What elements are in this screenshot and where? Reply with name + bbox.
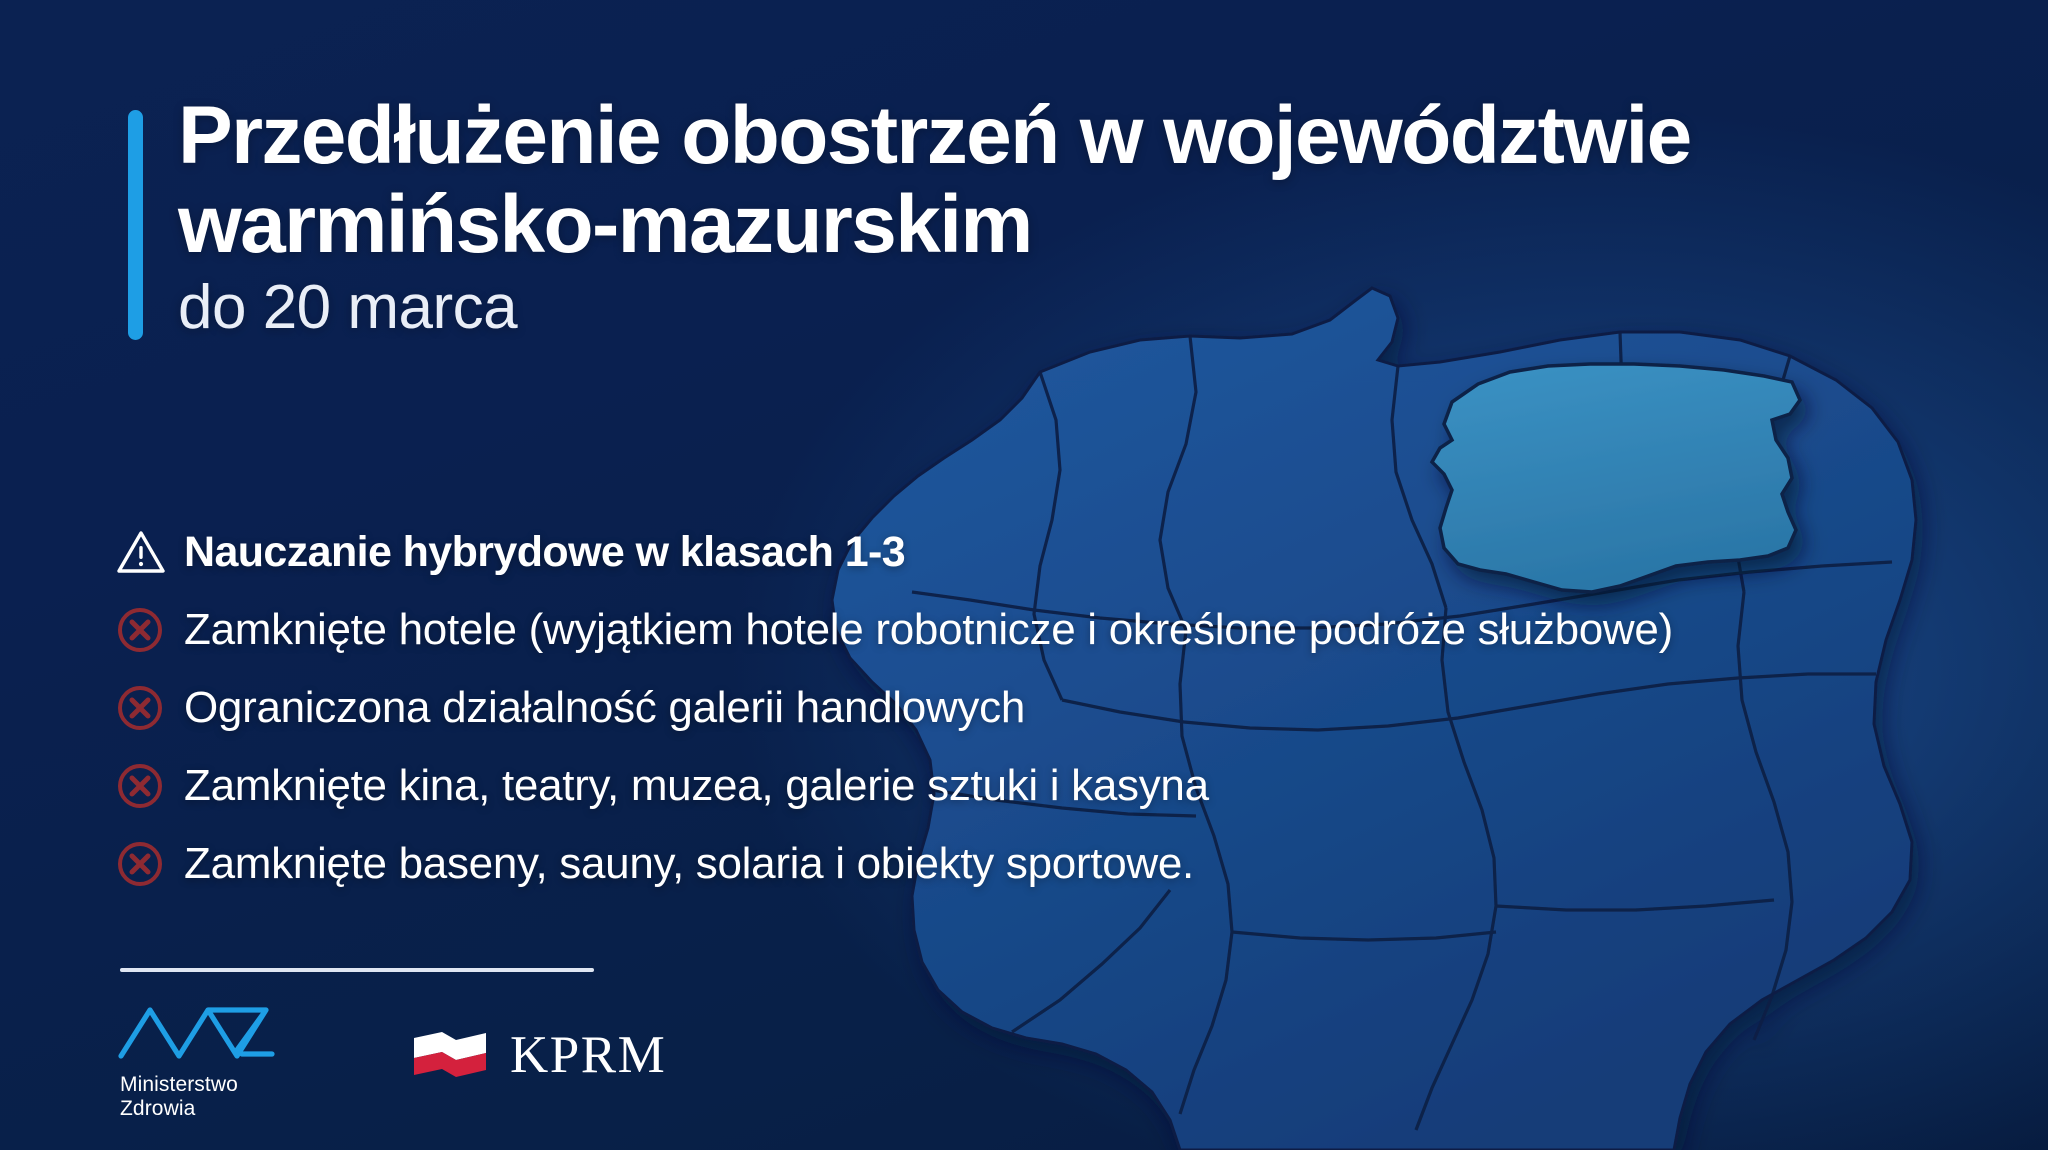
list-item: Zamknięte baseny, sauny, solaria i obiek… (116, 827, 1996, 901)
page-title: Przedłużenie obostrzeń w województwie wa… (178, 92, 1908, 269)
warning-triangle-icon (116, 524, 178, 580)
x-circle-icon (116, 836, 178, 892)
list-item-label: Zamknięte kina, teatry, muzea, galerie s… (178, 761, 1209, 810)
page-title-line-1: Przedłużenie obostrzeń w województwie (178, 92, 1908, 181)
x-circle-icon (116, 758, 178, 814)
mz-monogram-icon (116, 1000, 316, 1067)
list-item-label: Zamknięte baseny, sauny, solaria i obiek… (178, 839, 1194, 888)
list-item: Zamknięte hotele (wyjątkiem hotele robot… (116, 593, 1996, 667)
restriction-list: Nauczanie hybrydowe w klasach 1-3 Zamkni… (116, 515, 1996, 905)
ministry-of-health-logo: Ministerstwo Zdrowia (116, 1000, 316, 1121)
list-item: Ograniczona działalność galerii handlowy… (116, 671, 1996, 745)
list-item-label: Nauczanie hybrydowe w klasach 1-3 (178, 528, 905, 576)
list-item-label: Zamknięte hotele (wyjątkiem hotele robot… (178, 605, 1673, 654)
page-subtitle: do 20 marca (178, 273, 1908, 342)
polish-flag-icon (412, 1028, 488, 1083)
kprm-logo: KPRM (412, 1000, 666, 1083)
list-item: Zamknięte kina, teatry, muzea, galerie s… (116, 749, 1996, 823)
kprm-wordmark: KPRM (510, 1029, 666, 1082)
list-item: Nauczanie hybrydowe w klasach 1-3 (116, 515, 1996, 589)
footer-divider (120, 968, 594, 972)
x-circle-icon (116, 680, 178, 736)
page-title-line-2: warmińsko-mazurskim (178, 181, 1908, 270)
list-item-label: Ograniczona działalność galerii handlowy… (178, 683, 1025, 732)
headline-block: Przedłużenie obostrzeń w województwie wa… (178, 92, 1908, 343)
title-accent-bar (128, 110, 143, 340)
footer-logos: Ministerstwo Zdrowia KPRM (116, 1000, 666, 1120)
ministry-logo-caption: Ministerstwo Zdrowia (116, 1073, 316, 1121)
infographic-poster: Przedłużenie obostrzeń w województwie wa… (0, 0, 2048, 1150)
x-circle-icon (116, 602, 178, 658)
